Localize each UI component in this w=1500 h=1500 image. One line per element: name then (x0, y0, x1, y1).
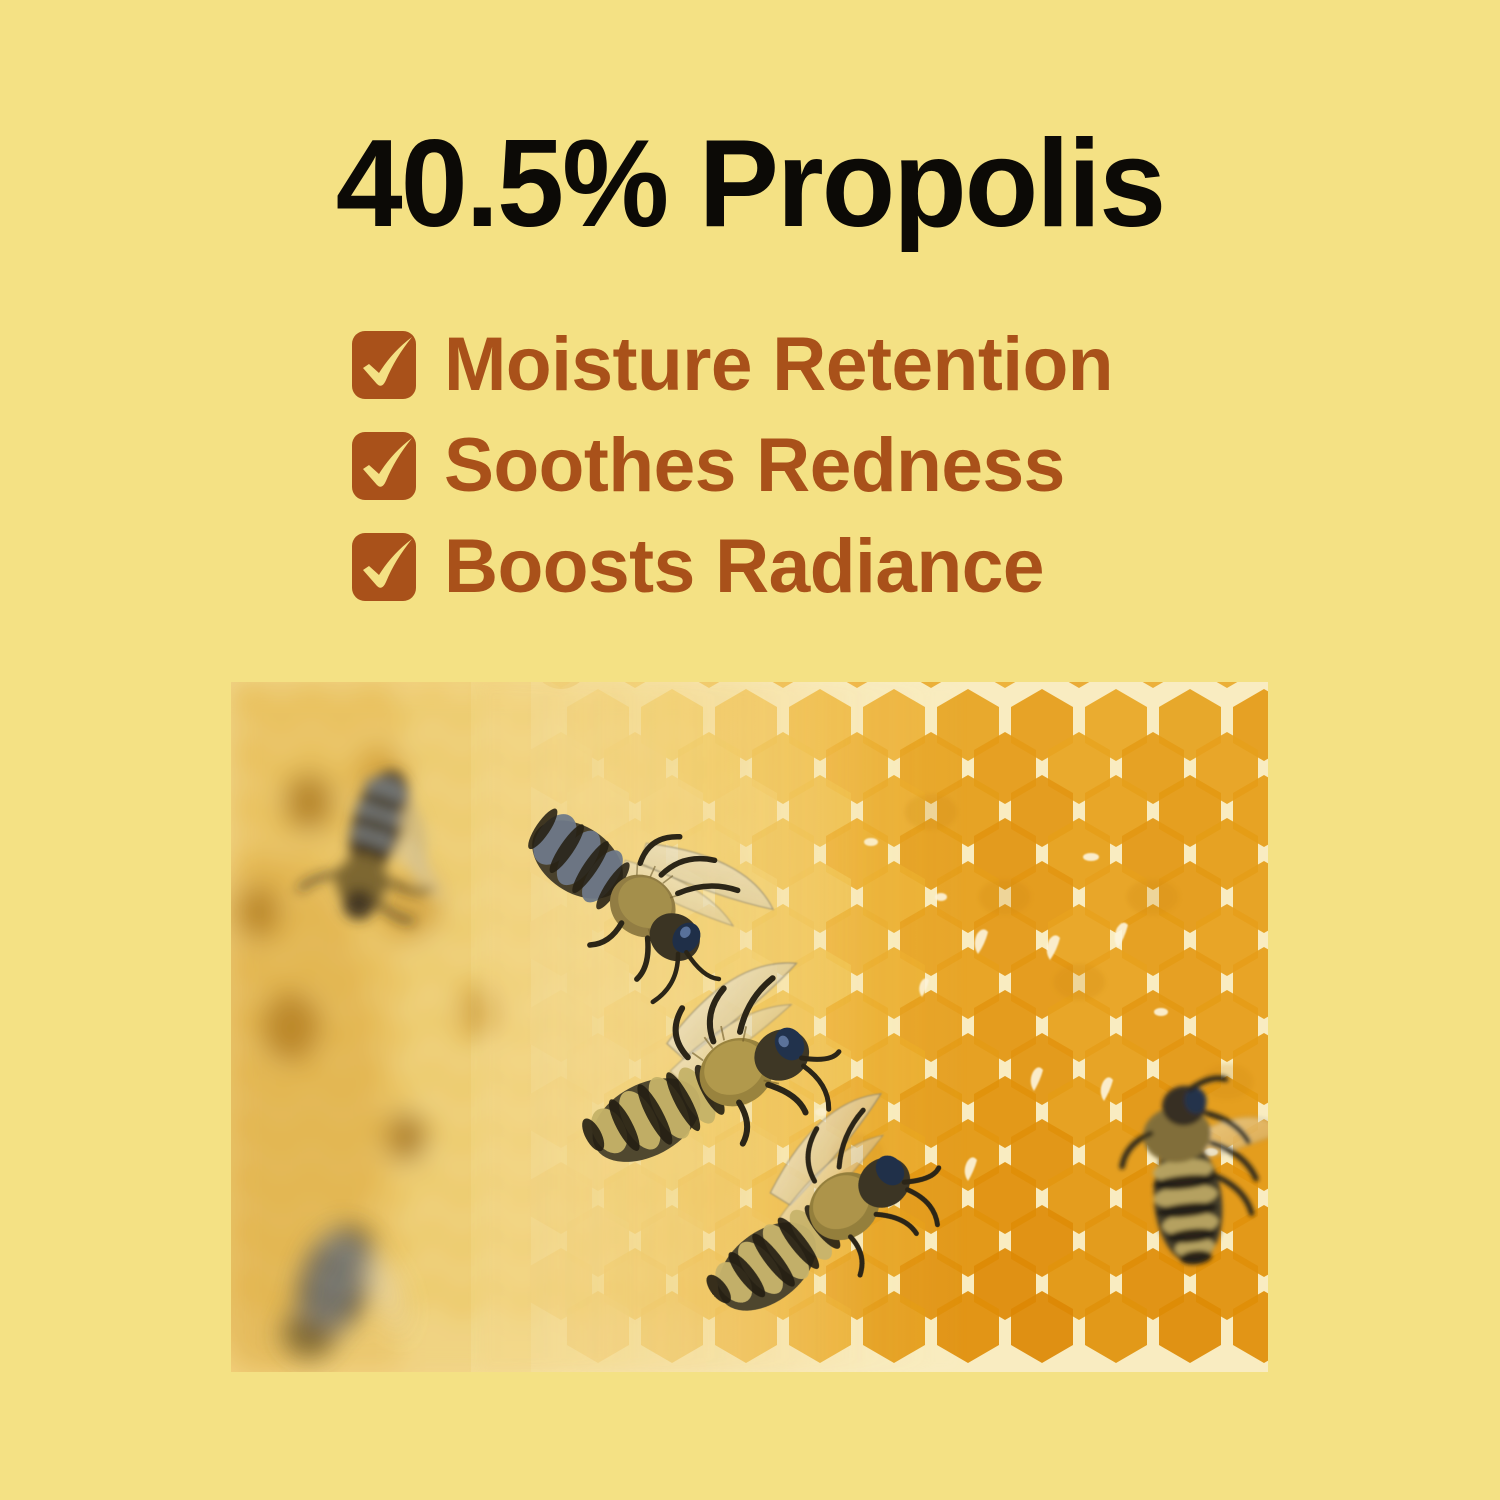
honeycomb-photo (231, 682, 1268, 1372)
checkbox-checked-icon (352, 533, 416, 601)
list-item: Boosts Radiance (352, 528, 1252, 606)
list-item: Moisture Retention (352, 326, 1252, 404)
page-title: 40.5% Propolis (23, 118, 1478, 250)
checkbox-checked-icon (352, 432, 416, 500)
benefit-label: Boosts Radiance (444, 528, 1044, 606)
benefit-label: Soothes Redness (444, 427, 1065, 505)
list-item: Soothes Redness (352, 427, 1252, 505)
benefit-label: Moisture Retention (444, 326, 1113, 404)
checkbox-checked-icon (352, 331, 416, 399)
benefit-list: Moisture Retention Soothes Redness Boost… (352, 326, 1252, 629)
product-benefit-poster: 40.5% Propolis Moisture Retention Soothe… (0, 0, 1500, 1500)
